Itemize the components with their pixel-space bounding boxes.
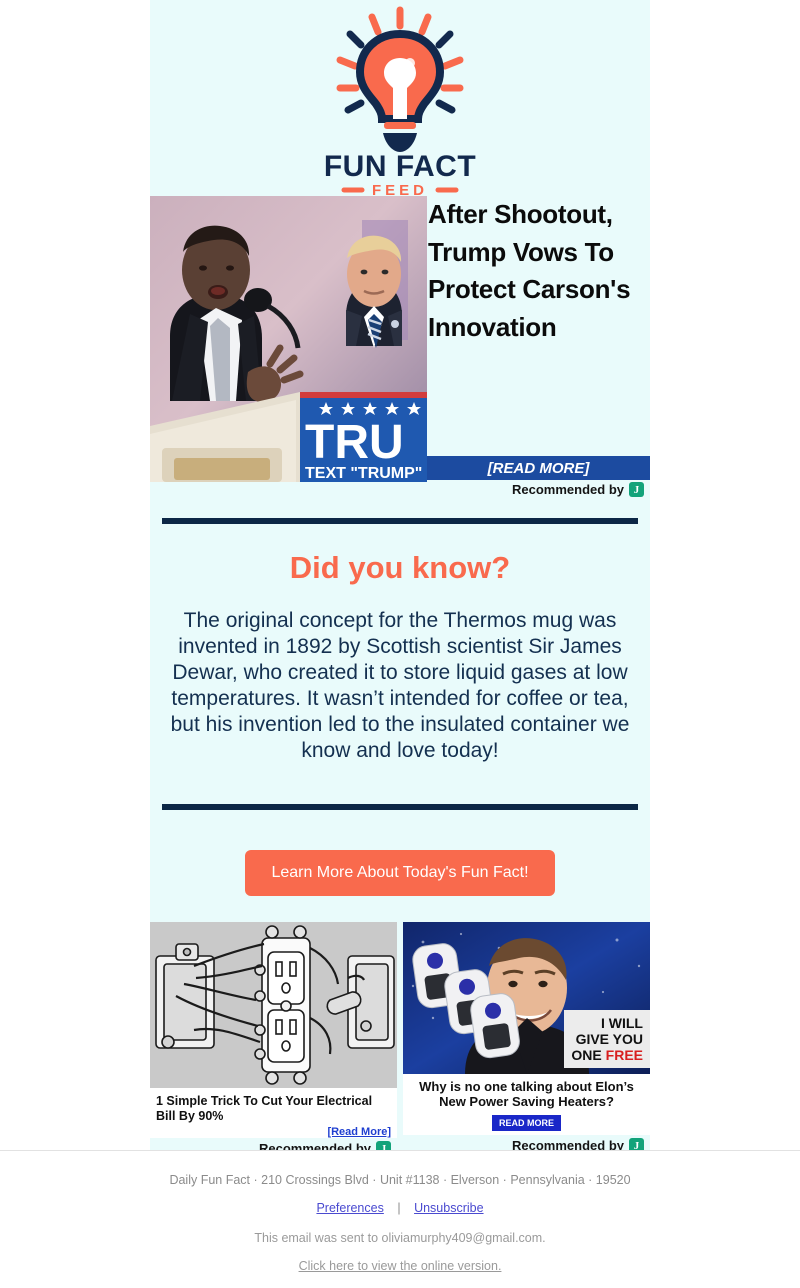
hero-headline-block: After Shootout, Trump Vows To Protect Ca… [427,196,667,347]
hero-recommended-by: Recommended by J [512,482,644,497]
footer-online-version: Click here to view the online version. [0,1259,800,1273]
divider-top [162,518,638,524]
ad-right-button-wrap: READ MORE [403,1109,650,1135]
ad-right-image[interactable]: I WILL GIVE YOU ONE FREE [403,922,650,1074]
fun-fact-section: Did you know? The original concept for t… [150,486,650,922]
svg-text:FUN FACT: FUN FACT [324,150,476,183]
overlay-line-2: GIVE YOU [571,1031,643,1047]
overlay-line-3: ONE FREE [571,1047,643,1063]
did-you-know-heading: Did you know? [150,550,650,586]
sponsored-ads-row: 1 Simple Trick To Cut Your Electrical Bi… [150,922,650,1160]
hero-recommended-label: Recommended by [512,482,624,497]
email-footer: Daily Fun Fact · 210 Crossings Blvd · Un… [0,1150,800,1288]
svg-text:FEED: FEED [372,182,428,196]
footer-address: Daily Fun Fact · 210 Crossings Blvd · Un… [0,1173,800,1187]
ad-left-image[interactable] [150,922,397,1088]
fun-fact-feed-logo[interactable]: FUN FACT FEED [300,0,500,196]
svg-text:TEXT "TRUMP": TEXT "TRUMP" [305,465,422,482]
ad-card-elon-heaters[interactable]: I WILL GIVE YOU ONE FREE Why is no one t… [403,922,650,1160]
cta-wrapper: Learn More About Today's Fun Fact! [150,810,650,922]
ad-card-electrical-bill[interactable]: 1 Simple Trick To Cut Your Electrical Bi… [150,922,397,1160]
sponsored-article-hero[interactable]: TRU TEXT "TRUMP" After Shootout, Trump V… [150,196,650,486]
lightbulb-icon: FUN FACT FEED [300,0,500,196]
footer-sent-to: This email was sent to oliviamurphy409@g… [0,1231,800,1245]
hero-headline-line-3: Protect Carson's [428,271,667,309]
overlay-line-1: I WILL [571,1015,643,1031]
unsubscribe-link[interactable]: Unsubscribe [414,1201,483,1215]
fun-fact-body: The original concept for the Thermos mug… [150,586,650,764]
learn-more-cta-button[interactable]: Learn More About Today's Fun Fact! [245,850,554,896]
ad-left-title[interactable]: 1 Simple Trick To Cut Your Electrical Bi… [150,1088,397,1124]
overlay-one: ONE [571,1047,605,1063]
overlay-free: FREE [606,1047,643,1063]
preferences-link[interactable]: Preferences [316,1201,383,1215]
hero-headline-line-1: After Shootout, [428,196,667,234]
email-page: FUN FACT FEED [0,0,800,1288]
ad-right-read-more-button[interactable]: READ MORE [492,1115,561,1131]
footer-links: Preferences | Unsubscribe [0,1201,800,1215]
hero-headline-line-4: Innovation [428,309,667,347]
online-version-link[interactable]: Click here to view the online version. [299,1259,502,1273]
email-content-column: FUN FACT FEED [150,0,650,1160]
ad-left-read-more-link[interactable]: [Read More] [150,1124,397,1138]
ad-right-title[interactable]: Why is no one talking about Elon’s New P… [403,1074,650,1109]
hero-headline-line-2: Trump Vows To [428,234,667,272]
taboola-j-badge-icon[interactable]: J [629,482,644,497]
footer-link-separator: | [387,1201,410,1215]
hero-read-more-button[interactable]: [READ MORE] [427,456,650,480]
ad-right-overlay-text: I WILL GIVE YOU ONE FREE [564,1010,650,1068]
svg-text:TRU: TRU [305,416,404,469]
email-header: FUN FACT FEED [150,0,650,196]
hero-article-image[interactable]: TRU TEXT "TRUMP" [150,196,427,482]
